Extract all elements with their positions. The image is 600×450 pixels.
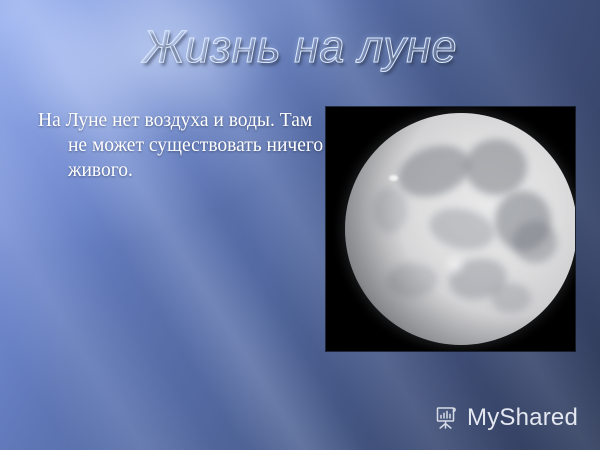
moon-mare <box>446 254 510 303</box>
watermark-label: MyShared <box>467 404 578 432</box>
presentation-slide: Жизнь на луне На Луне нет воздуха и воды… <box>0 0 600 450</box>
moon-ray-crater <box>441 251 469 279</box>
moon-mare <box>495 191 551 251</box>
watermark: MyShared <box>434 404 578 432</box>
moon-mare <box>513 221 557 263</box>
moon-photo <box>326 107 575 351</box>
moon-mare <box>387 263 437 297</box>
moon-mare <box>426 203 499 256</box>
moon-mare <box>491 283 531 313</box>
moon-mare <box>391 137 476 206</box>
slide-title: Жизнь на луне <box>0 22 600 72</box>
moon-mare <box>465 139 527 195</box>
slide-body-text: На Луне нет воздуха и воды. Там не может… <box>38 108 326 183</box>
moon-disc <box>345 113 575 345</box>
moon-bright-spot <box>389 175 398 181</box>
moon-mare <box>373 187 407 233</box>
presentation-chart-icon <box>434 405 460 431</box>
